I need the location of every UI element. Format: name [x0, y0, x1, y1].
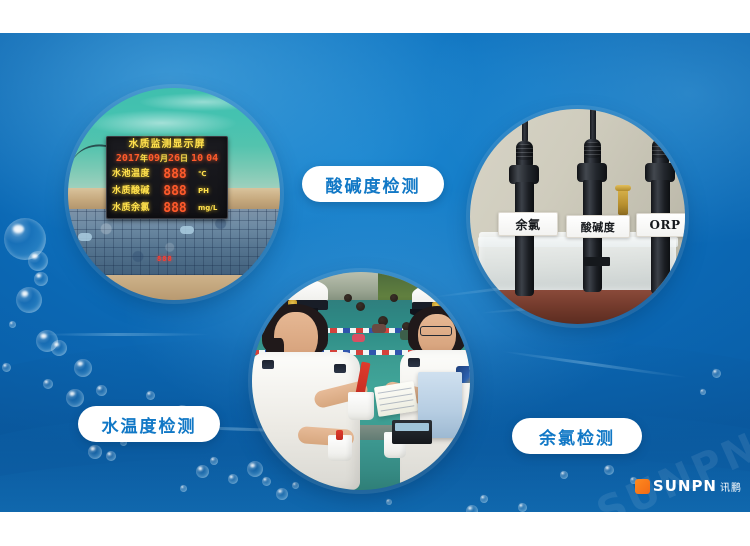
led-month-unit: 月 [160, 155, 168, 163]
bubble [88, 445, 102, 459]
bubble [480, 495, 488, 503]
sunpn-logo-wordmark: SUNPN [653, 477, 717, 495]
led-row-label: 水质酸碱 [112, 187, 152, 196]
bubble [466, 505, 478, 512]
photo-inspection-team [252, 272, 470, 490]
led-row-unit: mg/L [198, 205, 222, 212]
reflected-digits: 888 [157, 255, 173, 263]
led-row-value: 888 [152, 185, 198, 198]
officer-glasses [420, 326, 452, 336]
bubble [34, 272, 48, 286]
bubble [210, 457, 218, 465]
sunpn-logo-mark [635, 479, 650, 494]
led-row-unit: PH [198, 188, 222, 195]
led-year-unit: 年 [140, 155, 148, 163]
test-reagent-strip [336, 430, 343, 440]
bubble [9, 321, 16, 328]
bubble [66, 389, 84, 407]
led-display-board: 水质监测显示屏 2017 年 09 月 26 日 10 04 [106, 136, 228, 219]
bottom-white-bar [0, 512, 750, 546]
photo-sensor-probes: 余氯 酸碱度 ORP [470, 109, 685, 324]
bubble [228, 474, 238, 484]
bubble [180, 485, 187, 492]
sensor-probe-orp [642, 113, 685, 299]
bubble [74, 359, 92, 377]
probe-body [651, 180, 670, 294]
label-residual-chlorine-detection[interactable]: 余氯检测 [512, 418, 642, 454]
probe-cable [658, 109, 664, 141]
bubble [96, 385, 107, 396]
bubble [16, 287, 42, 313]
sunpn-brand-logo: SUNPN 讯鹏 [635, 477, 742, 495]
led-year: 2017 [116, 154, 140, 164]
bubble [560, 471, 568, 479]
swimmer [390, 294, 398, 302]
photo-led-display-board: 888 水质监测显示屏 2017 年 09 月 26 日 10 04 [68, 88, 280, 300]
probe-nameplate-orp: ORP [636, 213, 685, 237]
probe-cable [590, 109, 596, 143]
caustic-streak [40, 333, 210, 336]
officer-epaulet [334, 364, 346, 373]
led-minute: 04 [206, 154, 218, 164]
brass-sample-valve [618, 189, 628, 215]
portable-meter [392, 420, 432, 444]
bubble [604, 465, 614, 475]
probe-sticker [584, 257, 610, 266]
pool-fixture [78, 233, 92, 241]
probe-strain-relief [584, 139, 601, 165]
underwater-background-panel: SUNPN [0, 33, 750, 512]
label-water-temp-detection[interactable]: 水温度检测 [78, 406, 220, 442]
bubble [43, 379, 53, 389]
led-row-label: 水质余氯 [112, 204, 152, 213]
probe-strain-relief [652, 139, 669, 165]
bubble [2, 363, 11, 372]
led-row-temperature: 水池温度 888 ℃ [112, 168, 222, 181]
pool-fixture [180, 226, 194, 234]
screenshot-root: SUNPN [0, 0, 750, 546]
led-board-datetime: 2017 年 09 月 26 日 10 04 [112, 154, 222, 164]
pool-deck-lower [68, 275, 280, 300]
probe-nameplate-ph: 酸碱度 [566, 215, 630, 238]
bubble [700, 389, 706, 395]
bubble [51, 340, 67, 356]
led-row-value: 888 [152, 202, 198, 215]
probe-strain-relief [516, 141, 533, 167]
probe-nameplate-residual-chlorine: 余氯 [498, 212, 558, 236]
sunpn-logo-chinese: 讯鹏 [720, 479, 742, 494]
led-month: 09 [148, 154, 160, 164]
led-row-unit: ℃ [198, 171, 222, 178]
sensor-probe-residual-chlorine [506, 115, 552, 300]
sensor-probe-ph [574, 109, 620, 299]
bubble [712, 369, 721, 378]
officer-epaulet [408, 358, 420, 367]
probe-cable [522, 109, 528, 143]
bubble [106, 451, 116, 461]
sample-cup [348, 392, 374, 420]
bubble [196, 465, 209, 478]
led-row-value: 888 [152, 168, 198, 181]
bubble [146, 391, 155, 400]
bubble [386, 499, 392, 505]
led-hour: 10 [191, 154, 203, 164]
probe-body [515, 182, 534, 296]
led-row-label: 水池温度 [112, 170, 152, 179]
inspector-left [252, 276, 388, 490]
bubble [28, 251, 48, 271]
led-board-title: 水质监测显示屏 [112, 140, 222, 150]
label-ph-detection[interactable]: 酸碱度检测 [302, 166, 444, 202]
bubble [518, 503, 527, 512]
led-row-ph: 水质酸碱 888 PH [112, 185, 222, 198]
bubble [36, 330, 58, 352]
caustic-streak [501, 350, 690, 379]
led-row-residual-chlorine: 水质余氯 888 mg/L [112, 202, 222, 215]
led-day: 26 [168, 154, 180, 164]
officer-epaulet [262, 360, 274, 369]
bubble [4, 218, 46, 260]
record-clipboard [374, 381, 418, 417]
led-day-unit: 日 [180, 155, 188, 163]
